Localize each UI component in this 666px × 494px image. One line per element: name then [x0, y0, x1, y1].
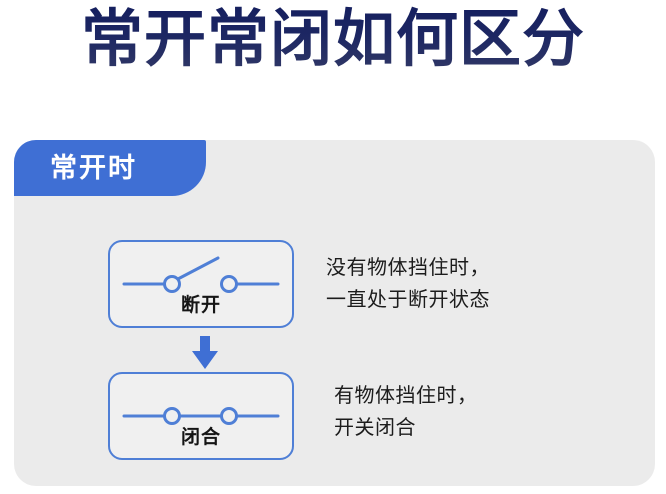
note-closed-line-1: 有物体挡住时， [334, 380, 478, 412]
info-card: 常开时 断开 闭合 没有物体挡住时， [14, 140, 655, 486]
switch-diagram-open: 断开 [108, 240, 294, 328]
section-tab-label: 常开时 [50, 155, 137, 182]
switch-label-closed: 闭合 [110, 422, 292, 449]
switch-diagram-closed: 闭合 [108, 372, 294, 460]
arrow-down-icon [190, 336, 220, 370]
note-open-line-1: 没有物体挡住时， [326, 252, 490, 284]
note-closed-line-2: 开关闭合 [334, 412, 478, 444]
switch-label-open: 断开 [110, 290, 292, 317]
note-open-line-2: 一直处于断开状态 [326, 284, 490, 316]
note-closed-state: 有物体挡住时， 开关闭合 [334, 380, 478, 444]
note-open-state: 没有物体挡住时， 一直处于断开状态 [326, 252, 490, 316]
section-tab-normally-open: 常开时 [14, 140, 206, 196]
page-title: 常开常闭如何区分 [0, 2, 666, 78]
